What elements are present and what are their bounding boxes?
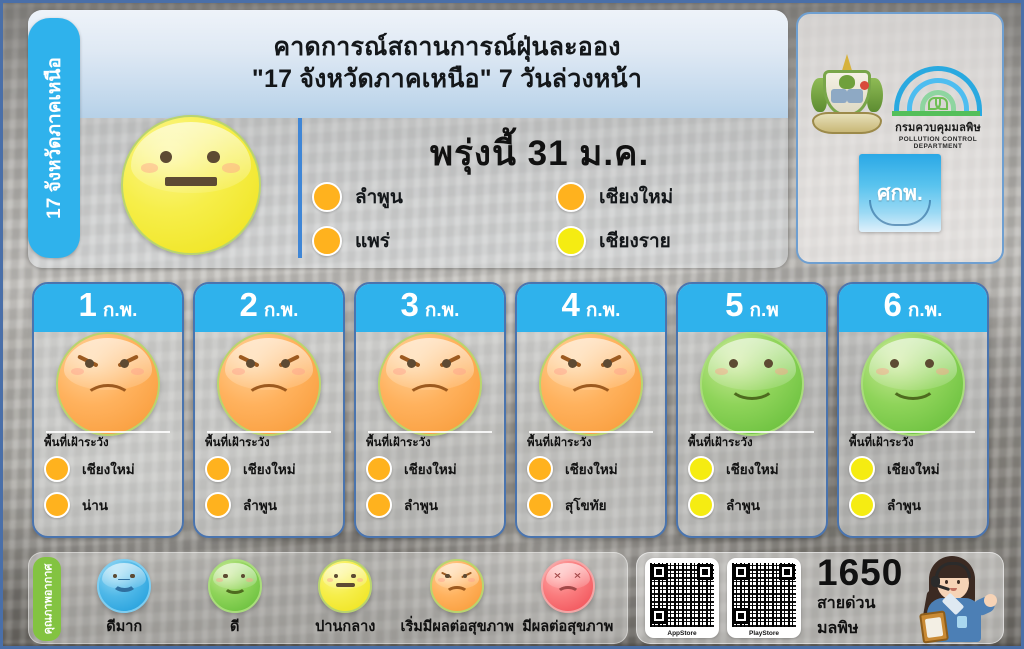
forecast-card-day-4[interactable]: 4 ก.พ. พื้นที่เฝ้าระวัง เชียงใหม่ สุโขทั…: [515, 282, 667, 538]
legend-item-good: ดี: [180, 559, 291, 638]
status-dot: [556, 226, 586, 256]
legend-label: ปานกลาง: [290, 615, 401, 638]
page-title-line1: คาดการณ์สถานการณ์ฝุ่นละออง: [273, 32, 620, 63]
status-dot: [312, 182, 342, 212]
card-divider: [690, 431, 814, 433]
list-item: ลำพูน: [205, 492, 296, 518]
starting-to-affect-health-face-icon: [430, 559, 484, 613]
forecast-card-day-1[interactable]: 1 ก.พ. พื้นที่เฝ้าระวัง เชียงใหม่ น่าน: [32, 282, 184, 538]
card-air-quality-face-icon: [700, 332, 804, 436]
city-label: ลำพูน: [887, 494, 921, 516]
forecast-card-day-5[interactable]: 5 ก.พ พื้นที่เฝ้าระวัง เชียงใหม่ ลำพูน: [676, 282, 828, 538]
card-watch-label: พื้นที่เฝ้าระวัง: [849, 434, 914, 452]
city-label: น่าน: [82, 494, 108, 516]
legend-label: ดีมาก: [69, 615, 180, 638]
status-dot: [312, 226, 342, 256]
city-label: ลำพูน: [355, 182, 403, 212]
card-day-number: 3: [401, 288, 419, 321]
card-date-header: 6 ก.พ.: [839, 284, 987, 332]
list-item: เชียงใหม่: [205, 456, 296, 482]
status-dot: [205, 456, 231, 482]
card-day-number: 1: [79, 288, 97, 321]
card-watch-label: พื้นที่เฝ้าระวัง: [688, 434, 753, 452]
list-item: ลำพูน: [366, 492, 457, 518]
appstore-qr-code[interactable]: AppStore: [645, 558, 719, 638]
city-label: เชียงใหม่: [565, 458, 618, 480]
today-air-quality-face-icon: [121, 115, 261, 255]
card-month-label: ก.พ: [750, 295, 779, 325]
card-day-number: 4: [562, 288, 580, 321]
list-item: เชียงใหม่: [366, 456, 457, 482]
card-watch-label: พื้นที่เฝ้าระวัง: [44, 434, 109, 452]
tomorrow-date-label: พรุ่งนี้ 31 ม.ค.: [430, 126, 649, 181]
city-label: แพร่: [355, 226, 390, 256]
sidebar-region-tab[interactable]: 17 จังหวัดภาคเหนือ: [28, 18, 80, 258]
city-label: เชียงใหม่: [82, 458, 135, 480]
city-label: เชียงใหม่: [599, 182, 673, 212]
status-dot: [688, 456, 714, 482]
moderate-face-icon: [318, 559, 372, 613]
card-air-quality-face-icon: [539, 332, 643, 436]
city-label: เชียงใหม่: [726, 458, 779, 480]
appstore-qr-label: AppStore: [645, 630, 719, 637]
status-dot: [44, 492, 70, 518]
header-title-band: คาดการณ์สถานการณ์ฝุ่นละออง "17 จังหวัดภา…: [28, 10, 788, 118]
status-dot: [849, 492, 875, 518]
legend-tab: คุณภาพอากาศ: [33, 557, 61, 641]
card-air-quality-face-icon: [217, 332, 321, 436]
card-city-list: เชียงใหม่ ลำพูน: [849, 456, 940, 528]
card-date-header: 5 ก.พ: [678, 284, 826, 332]
affects-health-face-icon: [541, 559, 595, 613]
list-item: ลำพูน: [849, 492, 940, 518]
status-dot: [556, 182, 586, 212]
card-divider: [851, 431, 975, 433]
card-day-number: 6: [884, 288, 902, 321]
status-dot: [527, 492, 553, 518]
playstore-qr-code[interactable]: PlayStore: [727, 558, 801, 638]
hotline-panel: AppStore PlayStore 1650 สายด่วนมลพิษ: [636, 552, 1004, 644]
card-date-header: 1 ก.พ.: [34, 284, 182, 332]
card-month-label: ก.พ.: [264, 295, 299, 325]
page-title-line2: "17 จังหวัดภาคเหนือ" 7 วันล่วงหน้า: [252, 63, 642, 96]
thai-government-emblem-icon: [812, 54, 882, 136]
city-label: เชียงใหม่: [887, 458, 940, 480]
legend-item-very-good: ดีมาก: [69, 559, 180, 638]
card-watch-label: พื้นที่เฝ้าระวัง: [527, 434, 592, 452]
list-item: สุโขทัย: [527, 492, 618, 518]
forecast-card-day-3[interactable]: 3 ก.พ. พื้นที่เฝ้าระวัง เชียงใหม่ ลำพูน: [354, 282, 506, 538]
city-label: สุโขทัย: [565, 494, 607, 516]
list-item: เชียงใหม่: [556, 182, 673, 212]
call-center-operator-icon: [909, 554, 995, 642]
legend-item-moderate: ปานกลาง: [290, 559, 401, 638]
legend-label: ดี: [180, 615, 291, 638]
legend-label: มีผลต่อสุขภาพ: [513, 615, 624, 638]
agency-logo-panel: กรมควบคุมมลพิษ POLLUTION CONTROL DEPARTM…: [796, 12, 1004, 264]
status-dot: [688, 492, 714, 518]
forecast-card-day-2[interactable]: 2 ก.พ. พื้นที่เฝ้าระวัง เชียงใหม่ ลำพูน: [193, 282, 345, 538]
forecast-card-row: 1 ก.พ. พื้นที่เฝ้าระวัง เชียงใหม่ น่าน: [0, 282, 1024, 544]
list-item: เชียงใหม่: [688, 456, 779, 482]
card-month-label: ก.พ.: [425, 295, 460, 325]
city-label: ลำพูน: [726, 494, 760, 516]
list-item: ลำพูน: [312, 182, 403, 212]
header-divider: [298, 118, 302, 258]
today-city-list-right: เชียงใหม่ เชียงราย: [556, 182, 673, 270]
city-label: เชียงราย: [599, 226, 671, 256]
card-date-header: 3 ก.พ.: [356, 284, 504, 332]
city-label: เชียงใหม่: [404, 458, 457, 480]
list-item: แพร่: [312, 226, 403, 256]
list-item: ลำพูน: [688, 492, 779, 518]
status-dot: [527, 456, 553, 482]
card-date-header: 4 ก.พ.: [517, 284, 665, 332]
status-dot: [366, 492, 392, 518]
card-month-label: ก.พ.: [586, 295, 621, 325]
status-dot: [849, 456, 875, 482]
card-air-quality-face-icon: [861, 332, 965, 436]
city-label: เชียงใหม่: [243, 458, 296, 480]
list-item: เชียงใหม่: [849, 456, 940, 482]
legend-tab-label: คุณภาพอากาศ: [38, 564, 56, 635]
pollution-control-department-logo: กรมควบคุมมลพิษ POLLUTION CONTROL DEPARTM…: [888, 54, 988, 150]
list-item: เชียงใหม่: [44, 456, 135, 482]
hotline-subtitle: สายด่วนมลพิษ: [817, 591, 905, 641]
legend-item-unhealthy-start: เริ่มมีผลต่อสุขภาพ: [401, 559, 513, 638]
good-face-icon: [208, 559, 262, 613]
status-dot: [205, 492, 231, 518]
pcd-name-english: POLLUTION CONTROL DEPARTMENT: [888, 136, 988, 150]
status-dot: [44, 456, 70, 482]
sorpor-logo: ศกพ.: [859, 154, 941, 232]
card-watch-label: พื้นที่เฝ้าระวัง: [205, 434, 270, 452]
hotline-number-block: 1650 สายด่วนมลพิษ: [817, 555, 905, 640]
card-city-list: เชียงใหม่ สุโขทัย: [527, 456, 618, 528]
card-divider: [368, 431, 492, 433]
card-air-quality-face-icon: [56, 332, 160, 436]
card-city-list: เชียงใหม่ ลำพูน: [366, 456, 457, 528]
legend-label: เริ่มมีผลต่อสุขภาพ: [401, 615, 513, 638]
card-city-list: เชียงใหม่ น่าน: [44, 456, 135, 528]
very-good-face-icon: [97, 559, 151, 613]
city-label: ลำพูน: [404, 494, 438, 516]
list-item: เชียงราย: [556, 226, 673, 256]
air-quality-legend: คุณภาพอากาศ ดีมาก ดี: [28, 552, 628, 644]
sidebar-region-tab-label: 17 จังหวัดภาคเหนือ: [39, 57, 69, 219]
legend-item-unhealthy: มีผลต่อสุขภาพ: [513, 559, 624, 638]
pcd-name-thai: กรมควบคุมมลพิษ: [888, 118, 988, 136]
playstore-qr-label: PlayStore: [727, 630, 801, 637]
card-divider: [207, 431, 331, 433]
card-city-list: เชียงใหม่ ลำพูน: [205, 456, 296, 528]
list-item: เชียงใหม่: [527, 456, 618, 482]
forecast-card-day-6[interactable]: 6 ก.พ. พื้นที่เฝ้าระวัง เชียงใหม่ ลำพูน: [837, 282, 989, 538]
city-label: ลำพูน: [243, 494, 277, 516]
card-watch-label: พื้นที่เฝ้าระวัง: [366, 434, 431, 452]
today-city-list-left: ลำพูน แพร่: [312, 182, 403, 270]
list-item: น่าน: [44, 492, 135, 518]
card-divider: [529, 431, 653, 433]
status-dot: [366, 456, 392, 482]
card-date-header: 2 ก.พ.: [195, 284, 343, 332]
card-city-list: เชียงใหม่ ลำพูน: [688, 456, 779, 528]
card-month-label: ก.พ.: [908, 295, 943, 325]
card-day-number: 2: [240, 288, 258, 321]
hotline-number: 1650: [817, 555, 905, 590]
pcd-arc-icon: [892, 54, 984, 116]
card-month-label: ก.พ.: [103, 295, 138, 325]
card-divider: [46, 431, 170, 433]
card-day-number: 5: [725, 288, 743, 321]
card-air-quality-face-icon: [378, 332, 482, 436]
